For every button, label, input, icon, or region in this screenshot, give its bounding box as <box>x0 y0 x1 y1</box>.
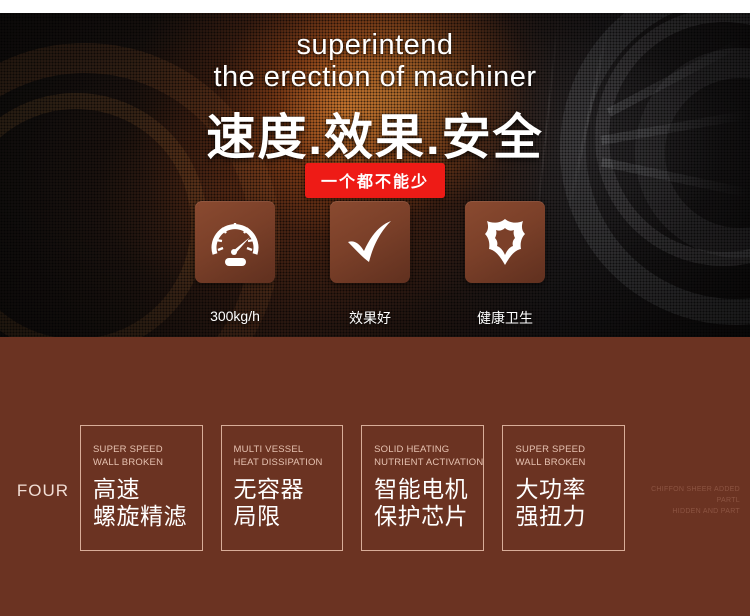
feature-card[interactable]: SUPER SPEED WALL BROKEN 高速 螺旋精滤 <box>80 425 203 551</box>
speedometer-icon <box>209 216 261 268</box>
feature-item-health: 健康卫生 <box>465 201 545 331</box>
top-white-strip <box>0 0 750 13</box>
feature-item-speed: 300kg/h <box>195 201 275 331</box>
feature-icon-row: 300kg/h 效果好 <box>195 201 545 331</box>
card-english-line-1: MULTI VESSEL <box>234 444 343 457</box>
card-chinese-line-1: 大功率 <box>515 476 624 503</box>
feature-card-list: SUPER SPEED WALL BROKEN 高速 螺旋精滤 MULTI VE… <box>80 425 625 553</box>
card-english-line-2: WALL BROKEN <box>515 457 624 470</box>
feature-label: 效果好 <box>349 308 391 328</box>
card-chinese-line-1: 无容器 <box>234 476 343 503</box>
feature-item-effect: 效果好 <box>330 201 410 331</box>
side-note-line-1: CHIFFON SHEER ADDED PARTL <box>632 484 740 506</box>
checkmark-icon <box>344 216 396 268</box>
card-chinese-line-1: 智能电机 <box>374 476 483 503</box>
shield-icon <box>479 216 531 268</box>
card-english-line-1: SOLID HEATING <box>374 444 483 457</box>
card-english-line-2: HEAT DISSIPATION <box>234 457 343 470</box>
promo-page: superintend the erection of machiner 速度.… <box>0 0 750 616</box>
feature-card[interactable]: MULTI VESSEL HEAT DISSIPATION 无容器 局限 <box>221 425 344 551</box>
hero-english-line-1: superintend <box>0 29 750 62</box>
card-english-line-2: NUTRIENT ACTIVATION <box>374 457 483 470</box>
card-chinese-line-2: 局限 <box>234 503 343 530</box>
hero-banner: superintend the erection of machiner 速度.… <box>0 13 750 337</box>
card-english-line-2: WALL BROKEN <box>93 457 202 470</box>
feature-label: 健康卫生 <box>477 308 533 328</box>
feature-icon-box <box>195 201 275 283</box>
feature-icon-box <box>330 201 410 283</box>
hero-red-badge: 一个都不能少 <box>305 163 445 198</box>
feature-icon-box <box>465 201 545 283</box>
card-english-line-1: SUPER SPEED <box>93 444 202 457</box>
card-chinese-line-1: 高速 <box>93 476 202 503</box>
card-chinese-line-2: 强扭力 <box>515 503 624 530</box>
hero-chinese-title: 速度.效果.安全 <box>0 98 750 169</box>
hero-english-line-2: the erection of machiner <box>0 61 750 94</box>
card-chinese-line-2: 螺旋精滤 <box>93 503 202 530</box>
card-english-line-1: SUPER SPEED <box>515 444 624 457</box>
feature-card[interactable]: SOLID HEATING NUTRIENT ACTIVATION 智能电机 保… <box>361 425 484 551</box>
section-label-four: FOUR <box>10 481 76 501</box>
side-note: CHIFFON SHEER ADDED PARTL HIDDEN AND PAR… <box>632 484 740 517</box>
feature-label: 300kg/h <box>210 308 260 324</box>
hero-content: superintend the erection of machiner 速度.… <box>0 13 750 337</box>
side-note-line-2: HIDDEN AND PART <box>632 506 740 517</box>
card-chinese-line-2: 保护芯片 <box>374 503 483 530</box>
feature-card[interactable]: SUPER SPEED WALL BROKEN 大功率 强扭力 <box>502 425 625 551</box>
